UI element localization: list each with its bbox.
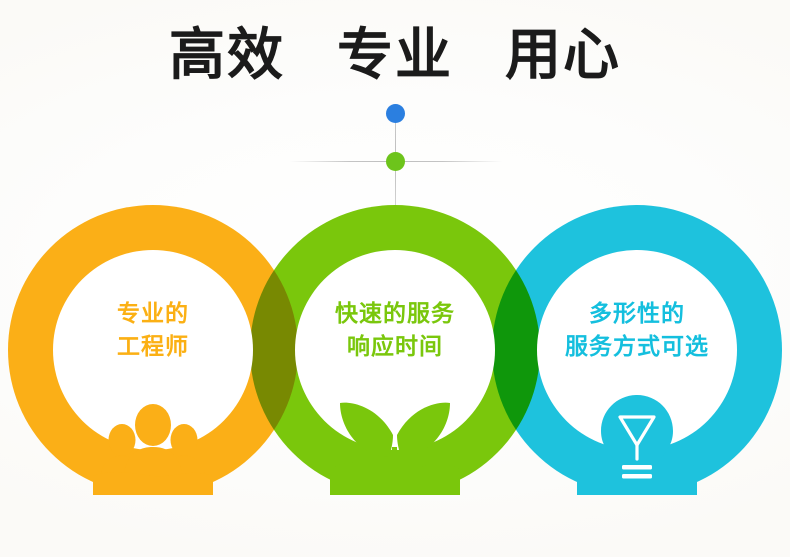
- lightbulb-icon: [492, 385, 782, 495]
- circle-service-modes[interactable]: 多形性的 服务方式可选: [492, 205, 782, 495]
- circle-service-modes-caption: 多形性的 服务方式可选: [492, 297, 782, 362]
- poster-canvas: 高效专业用心 专业的 工程师: [0, 0, 790, 557]
